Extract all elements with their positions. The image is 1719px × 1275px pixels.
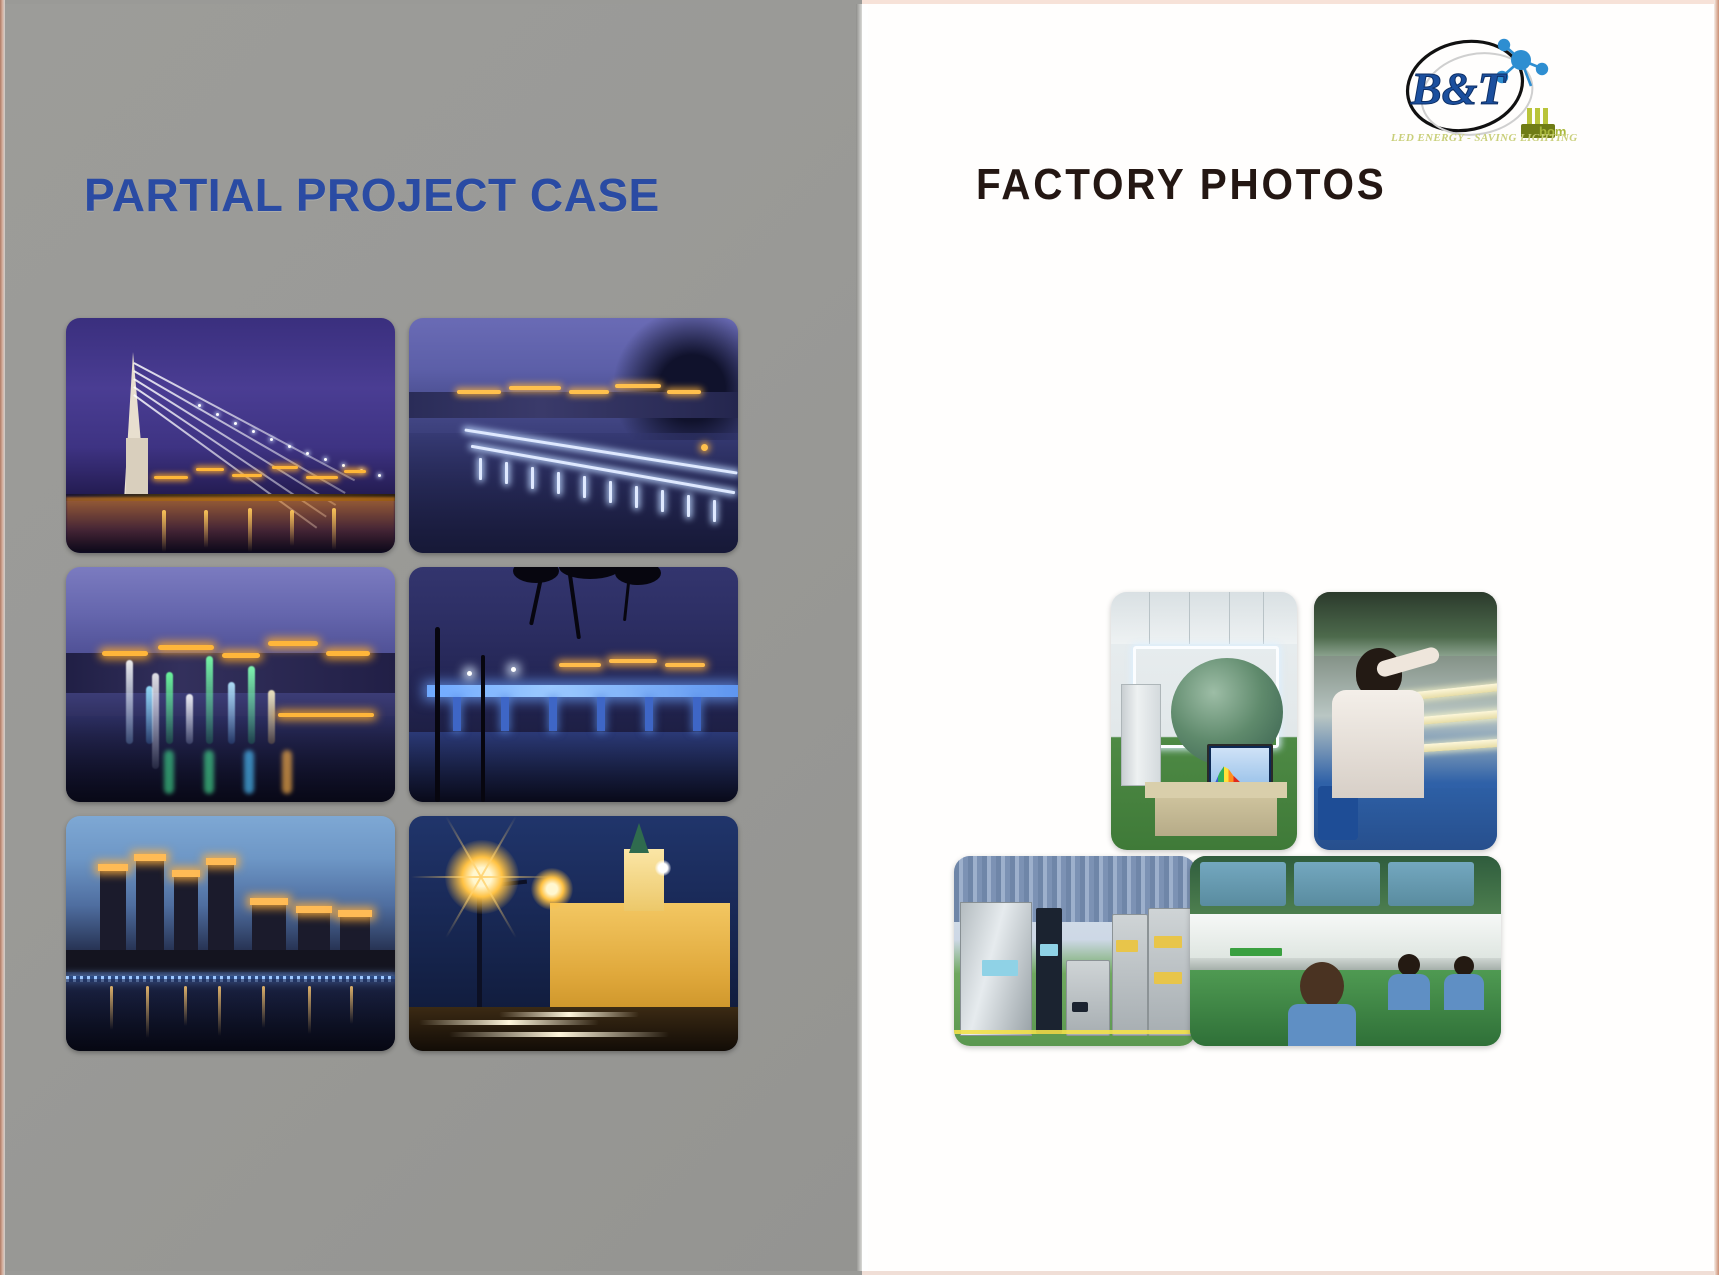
page-left-trim [0,0,5,1275]
bt-logo: B&T bom LED ENERGY - SAVING LIGHTING [1391,24,1571,142]
factory-photo-environmental-test-chambers [954,856,1196,1046]
factory-photo-integrating-sphere-test-lab [1111,592,1297,850]
project-photo-cable-stayed-bridge-night [66,318,395,553]
svg-text:B&T: B&T [1410,63,1507,114]
factory-photo-worker-led-tube-rack [1314,592,1497,850]
page-right-trim [1714,0,1719,1275]
project-photo-grid [66,318,738,1065]
project-photo-blue-lit-arch-bridge [409,567,738,802]
factory-photo-production-assembly-line [1190,856,1501,1046]
logo-tagline: LED ENERGY - SAVING LIGHTING [1391,132,1571,144]
project-photo-musical-fountain-night [66,567,395,802]
brochure-spread: PARTIAL PROJECT CASE [0,0,1719,1275]
left-page: PARTIAL PROJECT CASE [0,0,862,1275]
project-photo-residential-towers-waterfront [66,816,395,1051]
photo-row-2 [66,567,738,802]
project-photo-historic-building-street-lamps [409,816,738,1051]
project-photo-riverside-railing-walkway [409,318,738,553]
photo-row-3 [66,816,738,1051]
page-title-partial-project-case: PARTIAL PROJECT CASE [84,168,660,222]
page-bottom-trim [0,1271,1719,1275]
right-page: B&T bom LED ENERGY - SAVING LIGHTING FAC… [868,0,1719,1275]
page-title-factory-photos: FACTORY PHOTOS [976,160,1387,210]
bt-logo-graphic: B&T bom [1391,24,1571,142]
page-top-trim [0,0,1719,4]
photo-row-1 [66,318,738,553]
